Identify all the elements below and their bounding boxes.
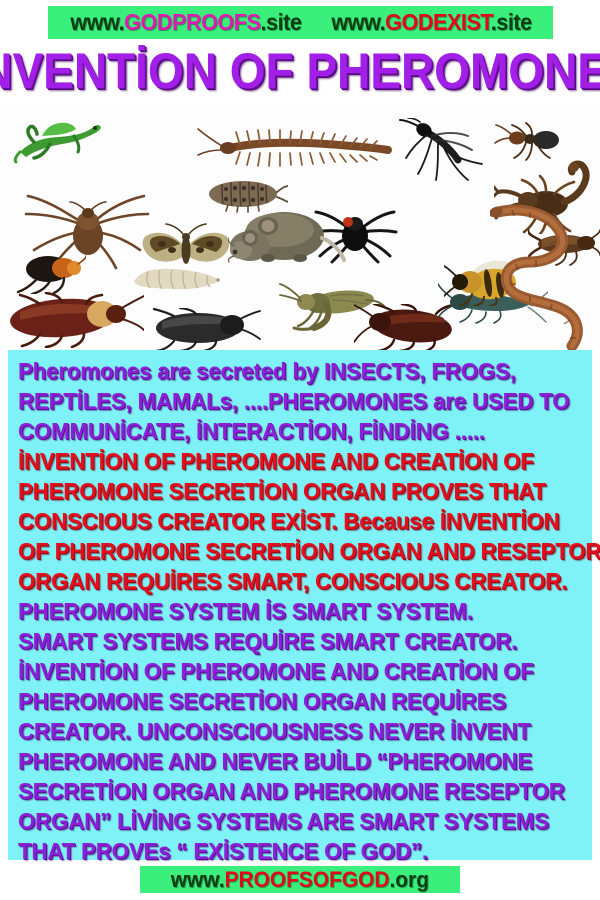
ant-icon — [492, 122, 564, 162]
centipede-icon — [196, 122, 396, 170]
body-line: CREATOR. UNCONSCIOUSNESS NEVER İNVENT — [18, 716, 575, 746]
mosquito-icon — [398, 118, 484, 194]
url-tld: .org — [390, 867, 429, 892]
body-line: REPTİLES, MAMALs, ....PHEROMONES are USE… — [18, 386, 575, 416]
url-tld: .site — [261, 9, 302, 35]
body-line: SECRETİON ORGAN AND PHEROMONE RESEPTOR — [18, 776, 575, 806]
page-title: İNVENTİON OF PHEROMONEs — [24, 40, 576, 102]
url-godproofs[interactable]: www.GODPROOFS.site — [70, 11, 301, 34]
body-line: PHEROMONE SYSTEM İS SMART SYSTEM. — [18, 596, 575, 626]
cockroach-large-icon — [4, 292, 144, 348]
url-domain: GODPROOFS — [124, 9, 260, 35]
pheromone-poster: www.GODPROOFS.site www.GODEXIST.site İNV… — [0, 0, 600, 900]
animal-collage — [0, 104, 600, 350]
body-line: İNVENTİON OF PHEROMONE AND CREATİON OF — [18, 446, 575, 476]
url-domain: GODEXIST — [385, 9, 491, 35]
body-line: PHEROMONE SECRETİON ORGAN REQUİRES — [18, 686, 575, 716]
body-line: PHEROMONE SECRETİON ORGAN PROVES THAT — [18, 476, 575, 506]
green-lizard-icon — [12, 112, 108, 166]
cockroach-small-icon — [142, 308, 262, 350]
url-domain: PROOFSOFGOD — [225, 867, 390, 892]
url-prefix: www. — [171, 867, 225, 892]
footer-url-banner: www.PROOFSOFGOD.org — [140, 866, 460, 893]
url-godexist[interactable]: www.GODEXIST.site — [331, 11, 531, 34]
url-prefix: www. — [70, 9, 124, 35]
body-text-panel: Pheromones are secreted by INSECTS, FROG… — [8, 350, 592, 860]
top-url-banner: www.GODPROOFS.site www.GODEXIST.site — [48, 6, 553, 39]
body-line: PHEROMONE AND NEVER BUİLD “PHEROMONE — [18, 746, 575, 776]
body-line: COMMUNİCATE, İNTERACTİON, FİNDİNG ..... — [18, 416, 575, 446]
larva-icon — [128, 264, 224, 294]
body-line: ORGAN” LİVİNG SYSTEMS ARE SMART SYSTEMS — [18, 806, 575, 836]
flea-icon — [14, 252, 86, 294]
body-line: İNVENTİON OF PHEROMONE AND CREATİON OF — [18, 656, 575, 686]
url-prefix: www. — [331, 9, 385, 35]
url-tld: .site — [491, 9, 532, 35]
snake-icon — [490, 204, 598, 350]
body-line: Pheromones are secreted by INSECTS, FROG… — [18, 356, 575, 386]
url-proofsofgod[interactable]: www.PROOFSOFGOD.org — [171, 869, 429, 891]
body-line: ORGAN REQUİRES SMART, CONSCIOUS CREATOR. — [18, 566, 575, 596]
body-line: OF PHEROMONE SECRETİON ORGAN AND RESEPTO… — [18, 536, 575, 566]
body-line: THAT PROVEs “ EXİSTENCE OF GOD”. — [18, 836, 575, 866]
mouse-icon — [228, 204, 346, 274]
body-line: CONSCIOUS CREATOR EXİST. Because İNVENTİ… — [18, 506, 575, 536]
body-line: SMART SYSTEMS REQUİRE SMART CREATOR. — [18, 626, 575, 656]
